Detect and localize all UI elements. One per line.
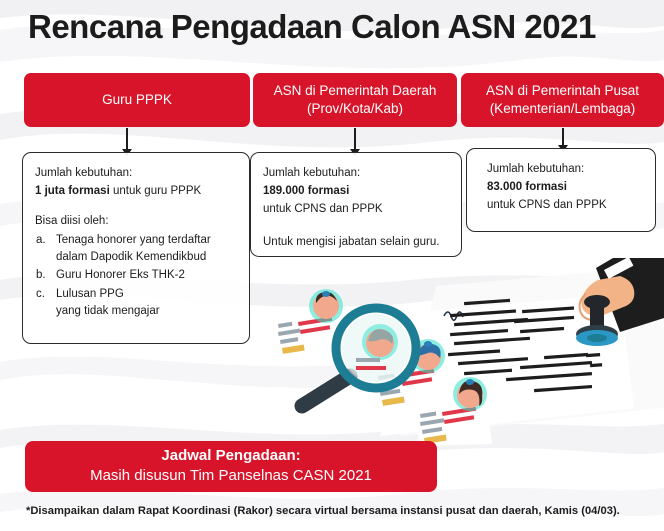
category-header-guru-pppk[interactable]: Guru PPPK — [24, 73, 250, 127]
list-text: Guru Honorer Eks THK-2 — [56, 267, 237, 284]
category-header-label: ASN di Pemerintah Daerah (Prov/Kota/Kab) — [274, 82, 437, 118]
formasi-amount-suffix: untuk guru PPPK — [110, 185, 201, 197]
header-line-1: ASN di Pemerintah Pusat — [486, 83, 639, 98]
list-marker: c. — [36, 286, 52, 303]
formasi-amount: 1 juta formasi — [35, 185, 110, 197]
schedule-banner-text: Masih disusun Tim Panselnas CASN 2021 — [90, 466, 372, 486]
list-item: a. Tenaga honorer yang terdaftar dalam D… — [35, 232, 237, 267]
formasi-amount: 189.000 formasi — [263, 183, 449, 200]
category-header-asn-daerah[interactable]: ASN di Pemerintah Daerah (Prov/Kota/Kab) — [253, 73, 457, 127]
list-item: b. Guru Honorer Eks THK-2 — [35, 267, 237, 284]
list-text-line-1: Lulusan PPG — [56, 288, 124, 300]
category-header-label: Guru PPPK — [102, 91, 172, 109]
bisa-diisi-label: Bisa diisi oleh: — [35, 213, 237, 230]
jumlah-kebutuhan-label: Jumlah kebutuhan: — [263, 165, 449, 182]
page-title: Rencana Pengadaan Calon ASN 2021 — [28, 8, 644, 46]
list-marker: a. — [36, 232, 52, 249]
formasi-amount: 83.000 formasi — [487, 179, 643, 196]
spacer — [35, 201, 237, 213]
footnote: *Disampaikan dalam Rapat Koordinasi (Rak… — [26, 505, 646, 517]
eligibility-list: a. Tenaga honorer yang terdaftar dalam D… — [35, 232, 237, 320]
header-line-2: (Prov/Kota/Kab) — [307, 101, 403, 116]
connector-arrow-down-icon — [562, 128, 564, 146]
header-line-2: (Kementerian/Lembaga) — [490, 101, 636, 116]
detail-box-asn-pusat: Jumlah kebutuhan: 83.000 formasi untuk C… — [466, 148, 656, 232]
schedule-banner: Jadwal Pengadaan: Masih disusun Tim Pans… — [25, 441, 437, 492]
list-text-line-1: Guru Honorer Eks THK-2 — [56, 269, 185, 281]
header-line-1: ASN di Pemerintah Daerah — [274, 83, 437, 98]
list-text-line-2: dalam Dapodik Kemendikbud — [56, 249, 237, 266]
category-header-asn-pusat[interactable]: ASN di Pemerintah Pusat (Kementerian/Lem… — [461, 73, 664, 127]
connector-arrow-down-icon — [354, 128, 356, 150]
detail-box-guru-pppk: Jumlah kebutuhan: 1 juta formasi untuk g… — [22, 152, 250, 344]
detail-note: Untuk mengisi jabatan selain guru. — [263, 234, 449, 251]
detail-box-asn-daerah: Jumlah kebutuhan: 189.000 formasi untuk … — [250, 152, 462, 257]
schedule-banner-title: Jadwal Pengadaan: — [161, 447, 300, 466]
jumlah-kebutuhan-label: Jumlah kebutuhan: — [487, 161, 643, 178]
formasi-amount-sub: untuk CPNS dan PPPK — [487, 197, 643, 214]
document-review-illustration — [268, 258, 664, 446]
list-text-line-2: yang tidak mengajar — [56, 303, 237, 320]
list-text: Lulusan PPG yang tidak mengajar — [56, 286, 237, 321]
jumlah-kebutuhan-label: Jumlah kebutuhan: — [35, 165, 237, 182]
list-marker: b. — [36, 267, 52, 284]
infographic-canvas: Rencana Pengadaan Calon ASN 2021 Guru PP… — [0, 0, 664, 531]
formasi-amount-sub: untuk CPNS dan PPPK — [263, 201, 449, 218]
list-text-line-1: Tenaga honorer yang terdaftar — [56, 234, 211, 246]
list-item: c. Lulusan PPG yang tidak mengajar — [35, 286, 237, 321]
connector-arrow-down-icon — [126, 128, 128, 150]
spacer — [263, 218, 449, 234]
category-header-label: ASN di Pemerintah Pusat (Kementerian/Lem… — [486, 82, 639, 118]
formasi-amount-row: 1 juta formasi untuk guru PPPK — [35, 183, 237, 200]
list-text: Tenaga honorer yang terdaftar dalam Dapo… — [56, 232, 237, 267]
